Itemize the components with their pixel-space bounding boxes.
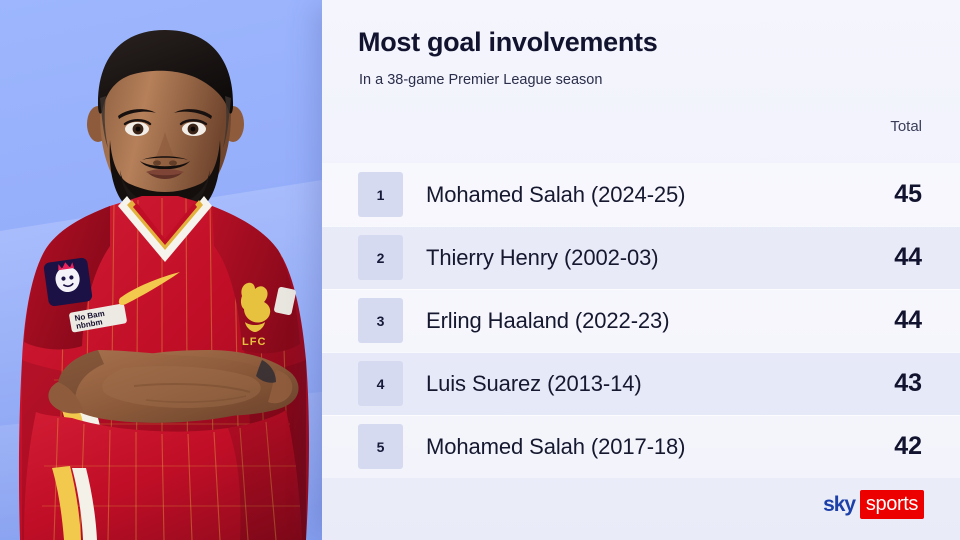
page-title: Most goal involvements bbox=[358, 27, 657, 58]
column-header-total: Total bbox=[890, 118, 922, 135]
leaderboard-table: 1 Mohamed Salah (2024-25) 45 2 Thierry H… bbox=[322, 163, 960, 478]
table-row: 5 Mohamed Salah (2017-18) 42 bbox=[322, 415, 960, 478]
table-row: 1 Mohamed Salah (2024-25) 45 bbox=[322, 163, 960, 226]
page-subtitle: In a 38-game Premier League season bbox=[359, 72, 602, 88]
player-cutout-image: No Bam nbnbm LFC bbox=[14, 20, 326, 540]
rank-badge: 4 bbox=[358, 361, 403, 406]
rank-badge: 2 bbox=[358, 235, 403, 280]
total-value: 44 bbox=[880, 243, 922, 272]
sky-wordmark: sky bbox=[823, 494, 860, 515]
total-value: 45 bbox=[880, 180, 922, 209]
rank-badge: 1 bbox=[358, 172, 403, 217]
table-row: 4 Luis Suarez (2013-14) 43 bbox=[322, 352, 960, 415]
footer: sky sports bbox=[823, 491, 924, 518]
total-value: 44 bbox=[880, 306, 922, 335]
table-row: 2 Thierry Henry (2002-03) 44 bbox=[322, 226, 960, 289]
player-photo-panel: No Bam nbnbm LFC bbox=[0, 0, 340, 540]
player-name: Mohamed Salah (2017-18) bbox=[426, 434, 880, 460]
player-name: Thierry Henry (2002-03) bbox=[426, 245, 880, 271]
sports-wordmark: sports bbox=[860, 490, 924, 519]
table-row: 3 Erling Haaland (2022-23) 44 bbox=[322, 289, 960, 352]
graphic-canvas: No Bam nbnbm LFC bbox=[0, 0, 960, 540]
player-name: Mohamed Salah (2024-25) bbox=[426, 182, 880, 208]
total-value: 43 bbox=[880, 369, 922, 398]
player-name: Erling Haaland (2022-23) bbox=[426, 308, 880, 334]
rank-badge: 3 bbox=[358, 298, 403, 343]
sky-sports-logo: sky sports bbox=[823, 492, 924, 517]
rank-badge: 5 bbox=[358, 424, 403, 469]
total-value: 42 bbox=[880, 432, 922, 461]
svg-text:LFC: LFC bbox=[242, 336, 266, 348]
stats-card: Most goal involvements In a 38-game Prem… bbox=[322, 0, 960, 540]
player-name: Luis Suarez (2013-14) bbox=[426, 371, 880, 397]
